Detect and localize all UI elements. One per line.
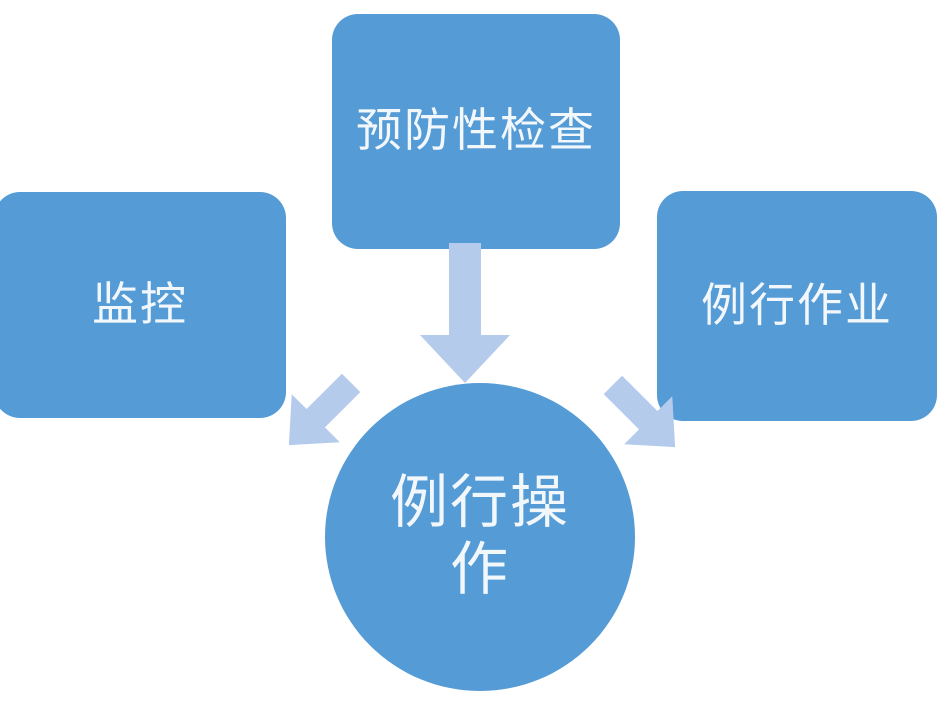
node-routine-operation[interactable]: 例行操作 bbox=[325, 383, 635, 691]
diagram-canvas: 预防性检查 监控 例行作业 例行操作 bbox=[0, 0, 948, 705]
node-monitoring-label: 监控 bbox=[92, 280, 188, 331]
node-routine-job[interactable]: 例行作业 bbox=[657, 191, 937, 421]
node-preventive-inspection-label: 预防性检查 bbox=[356, 106, 596, 157]
node-routine-operation-label: 例行操作 bbox=[380, 470, 580, 603]
arrow-monitoring-to-center bbox=[280, 368, 360, 460]
arrow-down-icon bbox=[420, 243, 510, 383]
node-preventive-inspection[interactable]: 预防性检查 bbox=[332, 14, 620, 249]
node-monitoring[interactable]: 监控 bbox=[0, 192, 286, 418]
arrow-preventive-to-center bbox=[420, 243, 540, 388]
node-routine-job-label: 例行作业 bbox=[701, 281, 893, 332]
